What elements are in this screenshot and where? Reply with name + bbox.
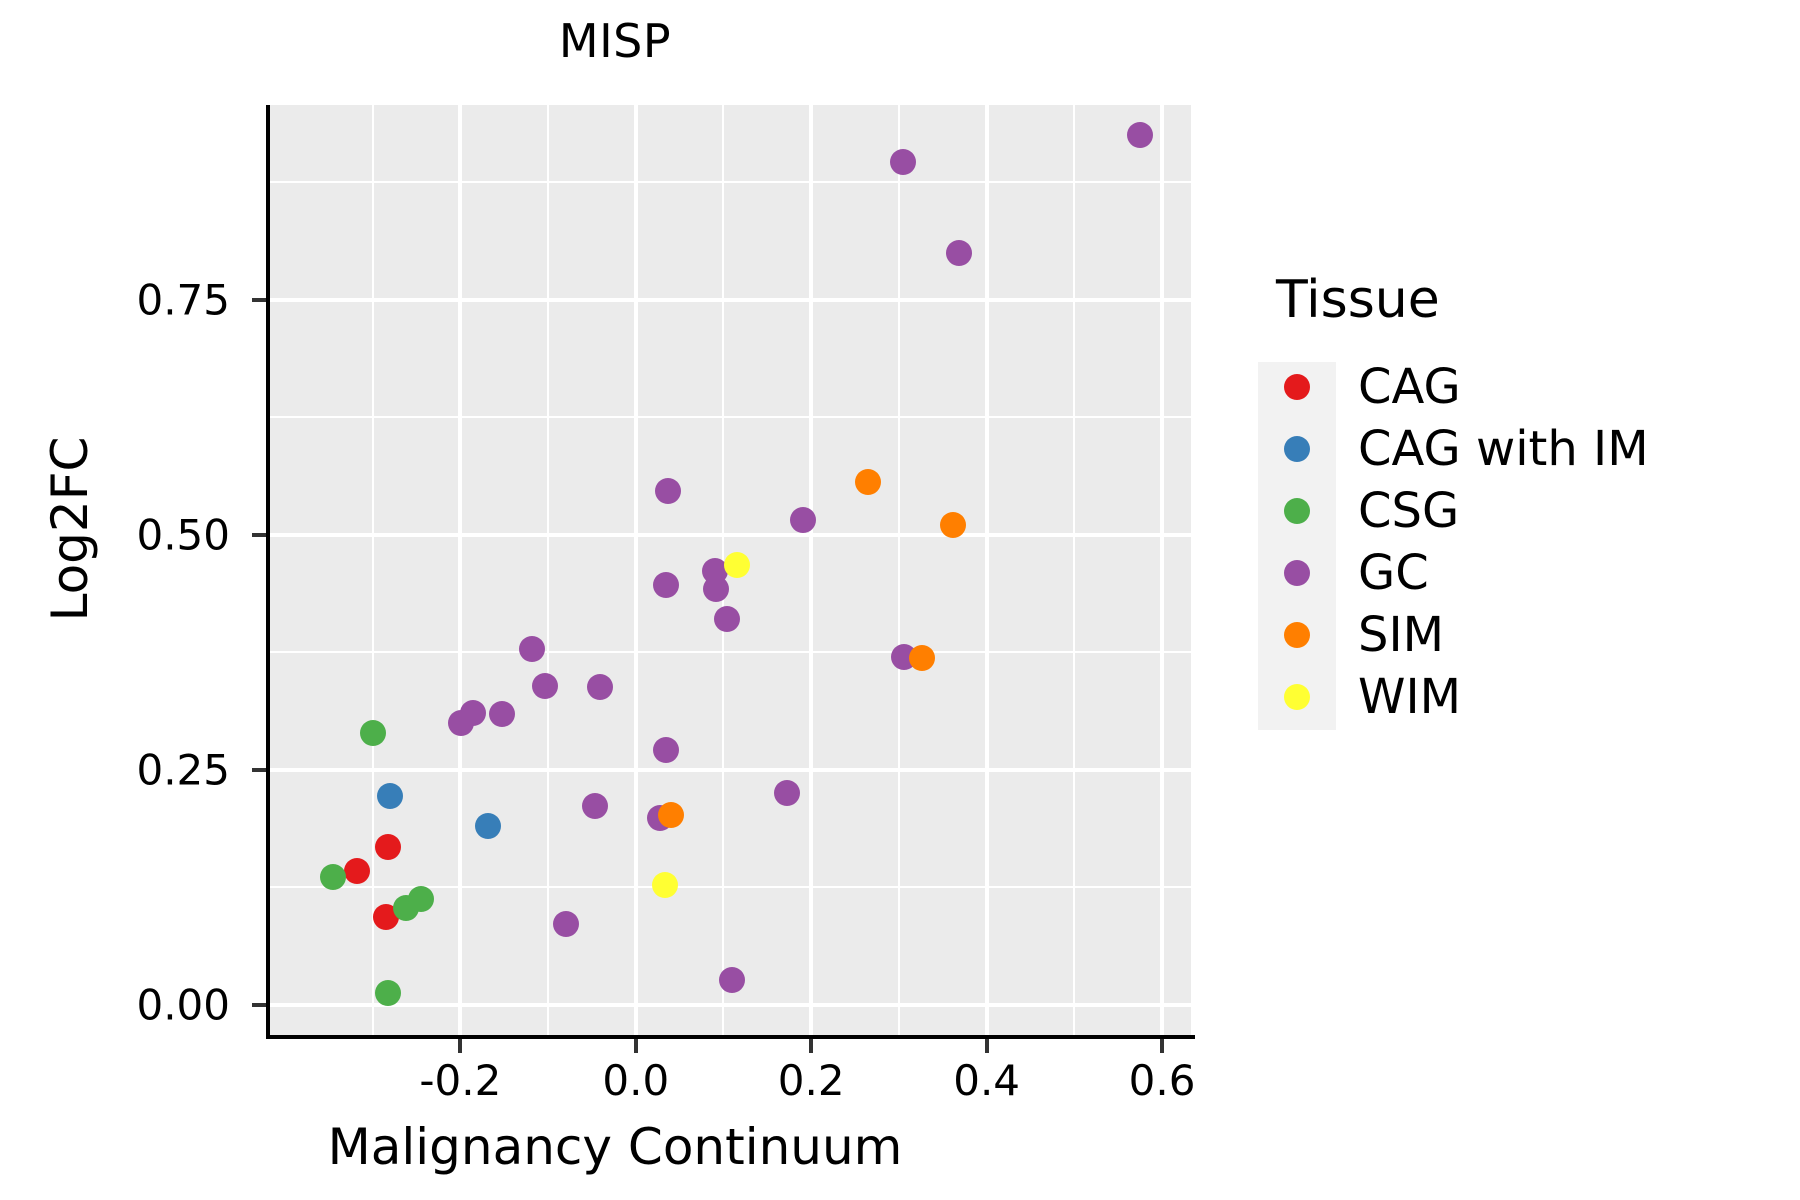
legend-dot-icon — [1284, 560, 1310, 586]
legend-item-cag[interactable]: CAG — [1258, 356, 1649, 418]
gridline-vertical — [985, 105, 989, 1035]
gridline-horizontal-minor — [270, 886, 1191, 888]
legend-item-sim[interactable]: SIM — [1258, 604, 1649, 666]
gridline-vertical-minor — [898, 105, 900, 1035]
data-point-sim — [909, 645, 935, 671]
x-axis-line — [266, 1035, 1195, 1039]
data-point-csg — [360, 720, 386, 746]
data-point-gc — [582, 793, 608, 819]
x-tick-label: 0.2 — [778, 1056, 845, 1105]
x-tick-mark — [985, 1039, 989, 1053]
legend-dot-icon — [1284, 374, 1310, 400]
data-point-cag — [375, 834, 401, 860]
legend-color-swatch — [1258, 498, 1336, 524]
gridline-horizontal — [270, 533, 1191, 537]
data-point-gc — [489, 701, 515, 727]
data-point-gc — [703, 576, 729, 602]
legend-item-wim[interactable]: WIM — [1258, 666, 1649, 728]
legend-item-label: GC — [1358, 545, 1429, 601]
legend-item-label: SIM — [1358, 607, 1444, 663]
data-point-gc — [653, 737, 679, 763]
data-point-csg — [375, 980, 401, 1006]
gridline-vertical-minor — [1073, 105, 1075, 1035]
data-point-sim — [855, 469, 881, 495]
data-point-gc — [460, 700, 486, 726]
gridline-horizontal — [270, 768, 1191, 772]
x-axis-title: Malignancy Continuum — [0, 1118, 1230, 1176]
gridline-vertical — [809, 105, 813, 1035]
gridline-horizontal-minor — [270, 651, 1191, 653]
data-point-gc — [655, 478, 681, 504]
gridline-vertical-minor — [372, 105, 374, 1035]
data-point-csg — [408, 886, 434, 912]
legend-item-label: CSG — [1358, 483, 1459, 539]
data-point-gc — [519, 636, 545, 662]
plot-title: MISP — [0, 14, 1230, 68]
legend-dot-icon — [1284, 684, 1310, 710]
y-tick-label: 0.00 — [60, 980, 230, 1029]
legend-color-swatch — [1258, 374, 1336, 400]
x-tick-label: -0.2 — [419, 1056, 501, 1105]
y-tick-mark — [252, 533, 266, 537]
gridline-horizontal-minor — [270, 181, 1191, 183]
data-point-gc — [653, 572, 679, 598]
data-point-wim — [724, 552, 750, 578]
data-point-sim — [658, 802, 684, 828]
legend-item-gc[interactable]: GC — [1258, 542, 1649, 604]
data-point-gc — [774, 780, 800, 806]
x-tick-mark — [634, 1039, 638, 1053]
data-point-sim — [940, 512, 966, 538]
x-tick-mark — [1160, 1039, 1164, 1053]
data-point-gc — [532, 673, 558, 699]
gridline-horizontal — [270, 1003, 1191, 1007]
data-point-gc — [714, 606, 740, 632]
data-point-gc — [1127, 122, 1153, 148]
data-point-cag-with-im — [475, 813, 501, 839]
x-tick-mark — [458, 1039, 462, 1053]
legend-title: Tissue — [1276, 270, 1649, 330]
y-tick-mark — [252, 768, 266, 772]
x-tick-label: 0.4 — [953, 1056, 1020, 1105]
legend-item-csg[interactable]: CSG — [1258, 480, 1649, 542]
x-tick-mark — [809, 1039, 813, 1053]
data-point-cag-with-im — [377, 783, 403, 809]
data-point-wim — [652, 872, 678, 898]
data-point-gc — [553, 911, 579, 937]
legend-dot-icon — [1284, 622, 1310, 648]
legend-dot-icon — [1284, 498, 1310, 524]
legend-color-swatch — [1258, 436, 1336, 462]
legend-color-swatch — [1258, 622, 1336, 648]
y-axis-title: Log2FC — [41, 269, 99, 789]
data-point-gc — [890, 149, 916, 175]
gridline-horizontal — [270, 298, 1191, 302]
legend-color-swatch — [1258, 684, 1336, 710]
y-axis-line — [266, 105, 270, 1035]
data-point-gc — [719, 967, 745, 993]
y-tick-mark — [252, 1003, 266, 1007]
data-point-cag — [344, 858, 370, 884]
legend-dot-icon — [1284, 436, 1310, 462]
legend-item-label: WIM — [1358, 669, 1461, 725]
data-point-gc — [587, 674, 613, 700]
gridline-horizontal-minor — [270, 416, 1191, 418]
gridline-vertical — [634, 105, 638, 1035]
data-point-csg — [320, 864, 346, 890]
gridline-vertical — [458, 105, 462, 1035]
gridline-vertical-minor — [547, 105, 549, 1035]
x-tick-label: 0.0 — [602, 1056, 669, 1105]
legend-item-label: CAG with IM — [1358, 421, 1649, 477]
legend-color-swatch — [1258, 560, 1336, 586]
x-tick-label: 0.6 — [1129, 1056, 1196, 1105]
chart-canvas: MISP 0.000.250.500.75 -0.20.00.20.40.6 M… — [0, 0, 1800, 1200]
gridline-vertical — [1160, 105, 1164, 1035]
legend: Tissue CAGCAG with IMCSGGCSIMWIM — [1258, 270, 1649, 728]
legend-items: CAGCAG with IMCSGGCSIMWIM — [1258, 356, 1649, 728]
plot-panel — [270, 105, 1191, 1035]
data-point-gc — [790, 507, 816, 533]
legend-item-label: CAG — [1358, 359, 1461, 415]
y-tick-mark — [252, 298, 266, 302]
data-point-gc — [946, 240, 972, 266]
legend-item-cag-with-im[interactable]: CAG with IM — [1258, 418, 1649, 480]
